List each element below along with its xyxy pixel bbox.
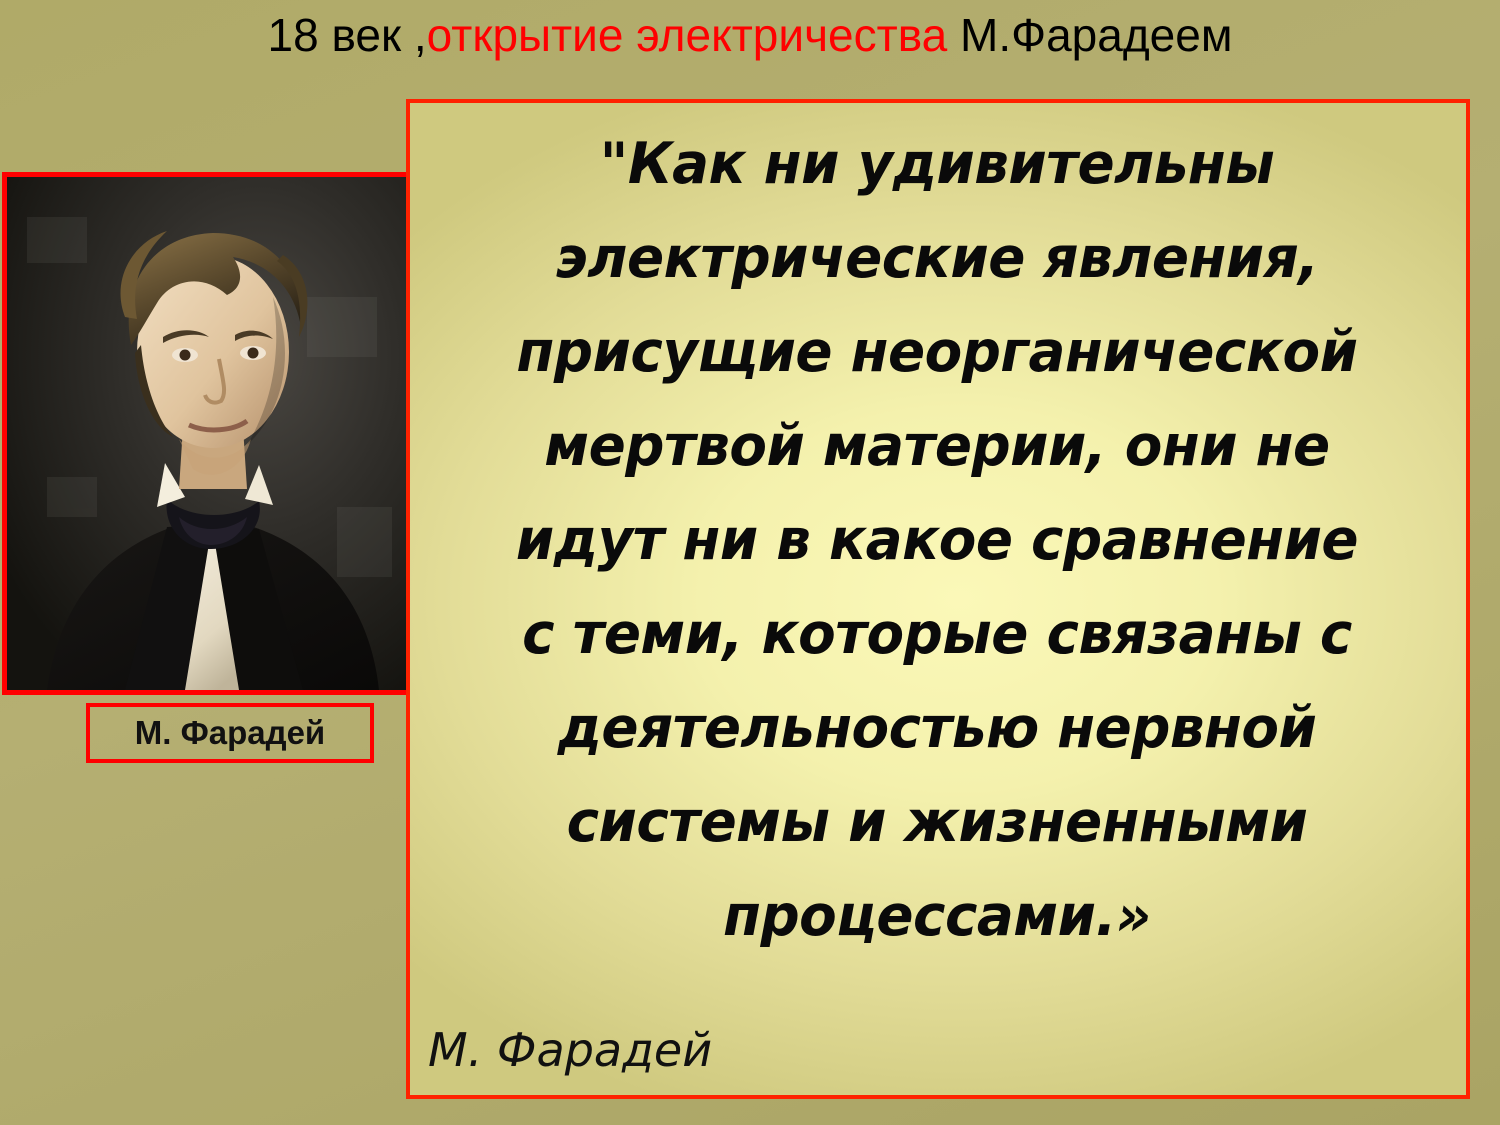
quote-box: "Как ни удивительны электрические явлени… bbox=[406, 99, 1470, 1099]
portrait-caption-label: М. Фарадей bbox=[135, 714, 325, 752]
quote-line: идут ни в какое сравнение bbox=[445, 493, 1430, 587]
title-part-author: М.Фарадеем bbox=[947, 9, 1232, 61]
faraday-portrait-image bbox=[7, 177, 412, 690]
title-part-highlight: открытие электричества bbox=[427, 9, 948, 61]
title-part-century: 18 век , bbox=[268, 9, 427, 61]
slide-canvas: 18 век ,открытие электричества М.Фарадее… bbox=[0, 0, 1500, 1125]
slide-title: 18 век ,открытие электричества М.Фарадее… bbox=[0, 6, 1500, 64]
portrait-caption-box: М. Фарадей bbox=[86, 703, 374, 763]
quote-line: с теми, которые связаны с bbox=[445, 587, 1430, 681]
portrait-frame bbox=[2, 172, 417, 695]
quote-line: "Как ни удивительны bbox=[445, 117, 1430, 211]
quote-line: мертвой материи, они не bbox=[445, 399, 1430, 493]
quote-attribution: М. Фарадей bbox=[428, 1021, 712, 1079]
quote-line: деятельностью нервной bbox=[445, 681, 1430, 775]
quote-line: системы и жизненными bbox=[445, 775, 1430, 869]
quote-body: "Как ни удивительны электрические явлени… bbox=[424, 117, 1450, 963]
quote-line: электрические явления, bbox=[445, 211, 1430, 305]
quote-line: присущие неорганической bbox=[445, 305, 1430, 399]
quote-line: процессами.» bbox=[445, 869, 1430, 963]
